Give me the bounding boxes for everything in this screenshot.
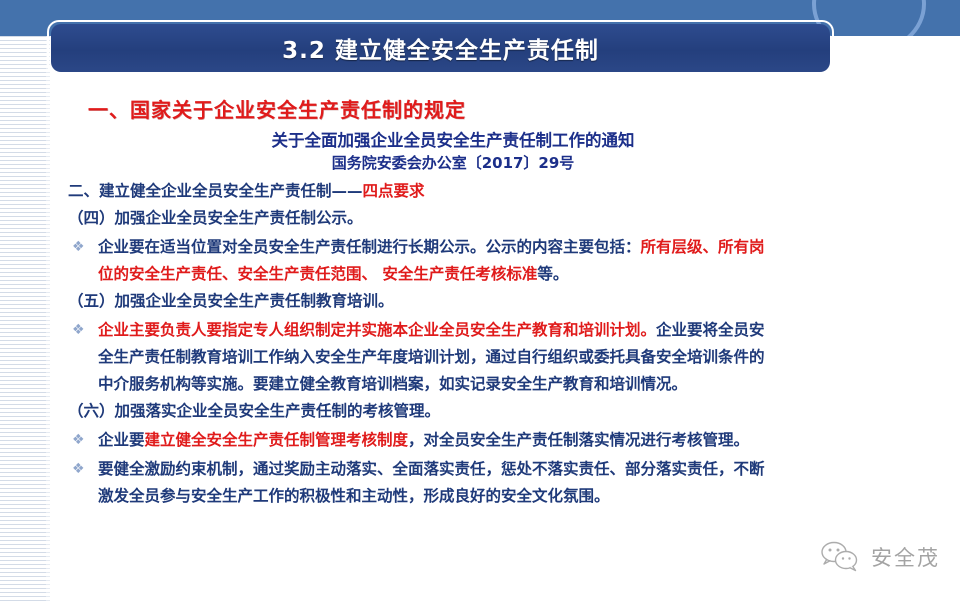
item-heading: （五）加强企业全员安全生产责任制教育培训。 [68,288,898,315]
section-two-prefix: 二、建立健全企业全员安全生产责任制—— [68,182,363,200]
document-number: 国务院安委会办公室〔2017〕29号 [68,152,898,173]
section-two-highlight: 四点要求 [363,182,425,200]
text-run: 建立健全安全生产责任制管理考核制度 [145,431,409,449]
bullet-line: 中介服务机构等实施。要建立健全教育培训档案，如实记录安全生产教育和培训情况。 [98,371,898,398]
item-heading: （六）加强落实企业全员安全生产责任制的考核管理。 [68,398,898,425]
text-run: 位的安全生产责任、安全生产责任范围、 安全生产责任考核标准 [98,265,537,283]
bullet-line: 要健全激励约束机制，通过奖励主动落实、全面落实责任，惩处不落实责任、部分落实责任… [98,456,898,483]
text-run: 企业要 [98,431,145,449]
watermark-text: 安全茂 [871,542,940,572]
text-run: ，对全员安全生产责任制落实情况进行考核管理。 [408,431,749,449]
section-heading-red: 一、国家关于企业安全生产责任制的规定 [88,94,898,123]
left-stripe-decoration-secondary [46,36,50,601]
text-run: 等。 [537,265,568,283]
bullet-item: ❖企业要建立健全安全生产责任制管理考核制度，对全员安全生产责任制落实情况进行考核… [68,427,898,454]
bullet-text: 企业要在适当位置对全员安全生产责任制进行长期公示。公示的内容主要包括：所有层级、… [98,234,898,288]
section-two-heading: 二、建立健全企业全员安全生产责任制——四点要求 [68,178,898,205]
bullet-text: 要健全激励约束机制，通过奖励主动落实、全面落实责任，惩处不落实责任、部分落实责任… [98,456,898,510]
bullet-text: 企业要建立健全安全生产责任制管理考核制度，对全员安全生产责任制落实情况进行考核管… [98,427,898,454]
text-run: 企业主要负责人要指定专人组织制定并实施本企业全员安全生产教育和培训计划。 [98,321,656,339]
wechat-icon [817,539,861,575]
bullet-line: 全生产责任制教育培训工作纳入安全生产年度培训计划，通过自行组织或委托具备安全培训… [98,344,898,371]
bullet-line: 企业要在适当位置对全员安全生产责任制进行长期公示。公示的内容主要包括：所有层级、… [98,234,898,261]
bullet-item: ❖企业要在适当位置对全员安全生产责任制进行长期公示。公示的内容主要包括：所有层级… [68,234,898,288]
slide-canvas: 3.2 建立健全安全生产责任制 一、国家关于企业安全生产责任制的规定 关于全面加… [0,0,960,601]
left-stripe-decoration [0,36,46,601]
bullet-line: 企业主要负责人要指定专人组织制定并实施本企业全员安全生产教育和培训计划。企业要将… [98,317,898,344]
bullet-item: ❖企业主要负责人要指定专人组织制定并实施本企业全员安全生产教育和培训计划。企业要… [68,317,898,398]
text-run: 激发全员参与安全生产工作的积极性和主动性，形成良好的安全文化氛围。 [98,487,610,505]
watermark: 安全茂 [817,539,940,575]
diamond-bullet-icon: ❖ [68,456,98,483]
text-run: 全生产责任制教育培训工作纳入安全生产年度培训计划，通过自行组织或委托具备安全培训… [98,348,765,366]
title-plate: 3.2 建立健全安全生产责任制 [51,24,830,72]
diamond-bullet-icon: ❖ [68,427,98,454]
text-run: 要健全激励约束机制，通过奖励主动落实、全面落实责任，惩处不落实责任、部分落实责任… [98,460,765,478]
text-run: 企业要在适当位置对全员安全生产责任制进行长期公示。公示的内容主要包括： [98,238,641,256]
text-run: 所有层级、所有岗 [641,238,765,256]
slide-body: 一、国家关于企业安全生产责任制的规定 关于全面加强企业全员安全生产责任制工作的通… [68,88,898,510]
diamond-bullet-icon: ❖ [68,317,98,344]
bullet-line: 位的安全生产责任、安全生产责任范围、 安全生产责任考核标准等。 [98,261,898,288]
text-run: 中介服务机构等实施。要建立健全教育培训档案，如实记录安全生产教育和培训情况。 [98,375,687,393]
text-run: 企业要将全员安 [656,321,765,339]
bullet-line: 激发全员参与安全生产工作的积极性和主动性，形成良好的安全文化氛围。 [98,483,898,510]
bullet-item: ❖要健全激励约束机制，通过奖励主动落实、全面落实责任，惩处不落实责任、部分落实责… [68,456,898,510]
slide-title-bar: 3.2 建立健全安全生产责任制 [47,20,834,76]
bullet-line: 企业要建立健全安全生产责任制管理考核制度，对全员安全生产责任制落实情况进行考核管… [98,427,898,454]
diamond-bullet-icon: ❖ [68,234,98,261]
document-title: 关于全面加强企业全员安全生产责任制工作的通知 [68,127,898,151]
item-heading: （四）加强企业全员安全生产责任制公示。 [68,205,898,232]
items-container: （四）加强企业全员安全生产责任制公示。❖企业要在适当位置对全员安全生产责任制进行… [68,205,898,510]
bullet-text: 企业主要负责人要指定专人组织制定并实施本企业全员安全生产教育和培训计划。企业要将… [98,317,898,398]
page-title: 3.2 建立健全安全生产责任制 [282,31,599,65]
